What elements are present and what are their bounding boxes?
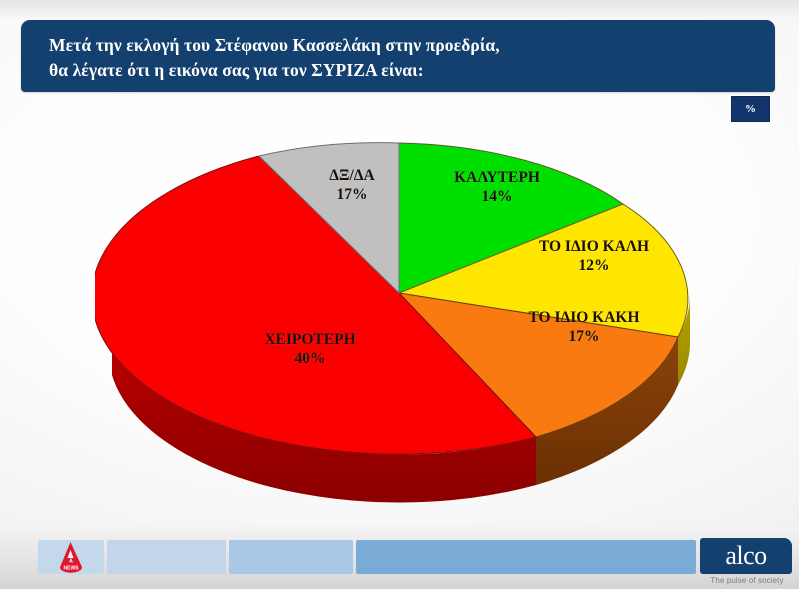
pie-label-dk-na: ΔΞ/ΔΑ 17% [287,166,417,204]
pie-label-same-good-value: 12% [499,256,689,275]
pie-label-same-bad-value: 17% [489,327,679,346]
alco-logo: alco [700,538,792,574]
slide-canvas: Μετά την εκλογή του Στέφανου Κασσελάκη σ… [0,0,799,589]
pie-label-worse-text: ΧΕΙΡΟΤΕΡΗ [264,331,355,348]
svg-text:NEWS: NEWS [64,566,80,572]
pie-label-better-text: ΚΑΛΥΤΕΡΗ [454,169,540,186]
footer-bar-3 [229,540,353,574]
pie-label-same-good-text: ΤΟ ΙΔΙΟ ΚΑΛΗ [539,238,649,255]
pie-label-dk-na-text: ΔΞ/ΔΑ [329,167,374,184]
alco-tagline: The pulse of society [702,576,792,585]
pie-chart: ΔΞ/ΔΑ 17% ΚΑΛΥΤΕΡΗ 14% ΤΟ ΙΔΙΟ ΚΑΛΗ 12% … [95,132,705,504]
footer-bar-2 [107,540,226,574]
alco-wordmark: alco [725,543,766,569]
pie-label-worse: ΧΕΙΡΟΤΕΡΗ 40% [225,330,395,368]
pie-label-same-bad-text: ΤΟ ΙΔΙΟ ΚΑΚΗ [528,309,639,326]
page-title: Μετά την εκλογή του Στέφανου Κασσελάκη σ… [49,33,749,83]
pie-label-dk-na-value: 17% [287,185,417,204]
pie-label-same-bad: ΤΟ ΙΔΙΟ ΚΑΚΗ 17% [489,308,679,346]
alpha-news-logo-icon: NEWS [51,541,91,574]
footer-bar-4 [356,540,696,574]
pie-label-better: ΚΑΛΥΤΕΡΗ 14% [422,168,572,206]
pie-label-better-value: 14% [422,187,572,206]
title-bar: Μετά την εκλογή του Στέφανου Κασσελάκη σ… [21,20,775,92]
pie-label-worse-value: 40% [225,349,395,368]
top-band [0,0,799,18]
unit-badge: % [731,96,770,122]
pie-label-same-good: ΤΟ ΙΔΙΟ ΚΑΛΗ 12% [499,237,689,275]
